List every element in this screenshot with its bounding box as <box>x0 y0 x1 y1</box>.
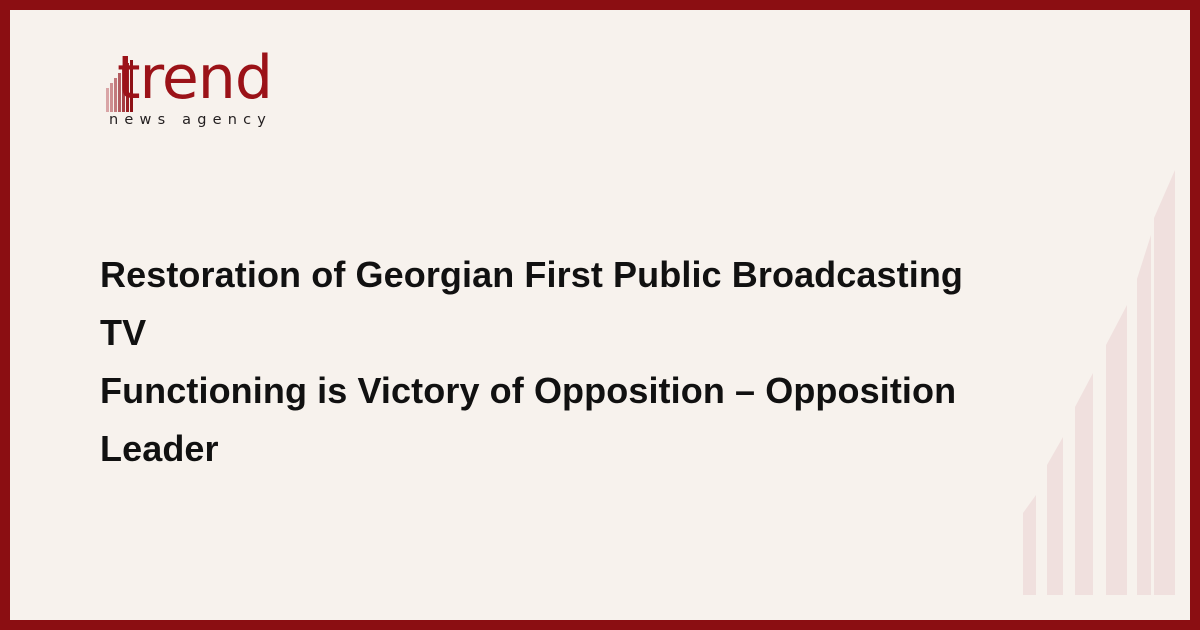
watermark-bar <box>1047 437 1063 595</box>
watermark-bar <box>1023 495 1036 595</box>
logo-bar <box>110 83 113 112</box>
page-title: Restoration of Georgian First Public Bro… <box>100 246 1000 478</box>
page-title-line: Functioning is Victory of Opposition – O… <box>100 362 1000 420</box>
trend-news-agency-logo[interactable]: trend news agency <box>95 45 375 145</box>
logo-tagline: news agency <box>109 113 272 128</box>
ascending-bars-watermark <box>1023 10 1175 620</box>
logo-wordmark: trend <box>117 48 272 108</box>
logo-bar <box>106 88 109 112</box>
watermark-bar <box>1154 170 1175 595</box>
page-title-line: Leader <box>100 420 1000 478</box>
share-card: trend news agency Restoration of Georgia… <box>0 0 1200 630</box>
watermark-bar <box>1137 235 1151 595</box>
watermark-bar <box>1075 373 1093 595</box>
page-title-line: Restoration of Georgian First Public Bro… <box>100 246 1000 362</box>
watermark-bar <box>1106 305 1127 595</box>
